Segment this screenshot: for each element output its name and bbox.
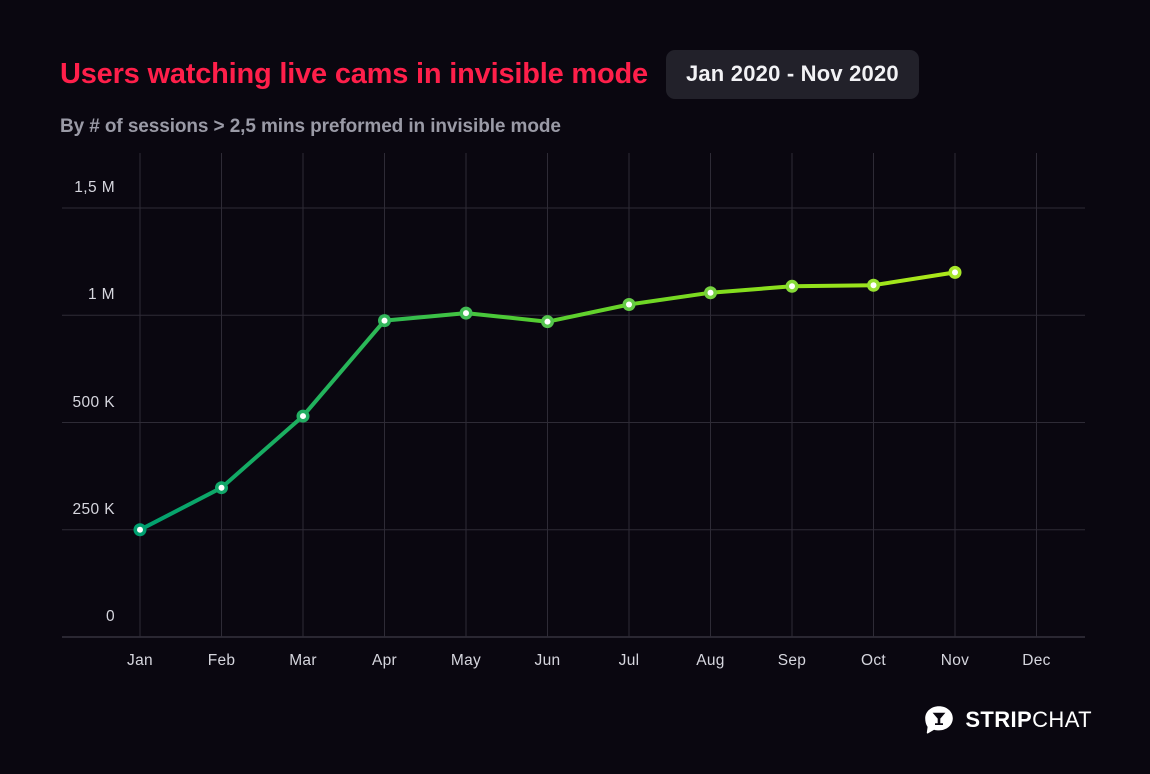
x-axis-tick-label: Apr [345,652,425,670]
data-point-marker-center [708,290,714,296]
data-point-marker [460,307,473,320]
data-point-marker [297,410,310,423]
date-range-badge: Jan 2020 - Nov 2020 [666,50,919,99]
x-axis-tick-label: Jan [100,652,180,670]
x-axis-tick-label: Sep [752,652,832,670]
x-axis-tick-label: Mar [263,652,343,670]
x-axis-tick-label: Jul [589,652,669,670]
data-point-marker-center [137,527,143,533]
data-point-marker-center [300,413,306,419]
title-row: Users watching live cams in invisible mo… [60,46,1092,102]
y-axis-tick-label: 0 [5,608,115,626]
data-point-marker [378,314,391,327]
data-point-marker [215,481,228,494]
data-point-marker [786,280,799,293]
grid-lines [62,153,1085,637]
data-series-line [140,272,955,529]
x-axis-tick-label: Nov [915,652,995,670]
logo-text-strip: STRIP [965,707,1032,732]
y-axis-tick-label: 1 M [5,286,115,304]
data-point-marker-center [871,282,877,288]
x-axis-tick-label: Jun [508,652,588,670]
x-axis-tick-label: Dec [997,652,1077,670]
data-point-marker [949,266,962,279]
page-title: Users watching live cams in invisible mo… [60,60,648,89]
data-point-marker [134,523,147,536]
y-axis-tick-label: 500 K [5,394,115,412]
logo-wordmark: STRIPCHAT [965,709,1092,731]
data-point-marker [704,286,717,299]
data-point-marker [623,298,636,311]
data-point-markers [134,266,962,536]
data-point-marker-center [463,310,469,316]
chart-page: Users watching live cams in invisible mo… [0,0,1150,774]
x-axis-tick-label: May [426,652,506,670]
data-point-marker-center [789,283,795,289]
data-point-marker-center [952,269,958,275]
data-point-marker [541,315,554,328]
chart-header: Users watching live cams in invisible mo… [60,46,1092,136]
y-axis-tick-label: 250 K [5,501,115,519]
x-axis-tick-label: Feb [182,652,262,670]
logo-text-chat: CHAT [1032,707,1092,732]
data-point-marker-center [545,319,551,325]
x-axis-tick-label: Oct [834,652,914,670]
data-point-marker-center [626,302,632,308]
stripchat-logo: STRIPCHAT [924,705,1092,735]
chart-subtitle: By # of sessions > 2,5 mins preformed in… [60,116,1092,138]
data-point-marker [867,279,880,292]
y-axis-tick-label: 1,5 M [5,179,115,197]
speech-bubble-icon [924,705,954,735]
x-axis-tick-label: Aug [671,652,751,670]
data-point-marker-center [219,485,225,491]
data-point-marker-center [382,318,388,324]
